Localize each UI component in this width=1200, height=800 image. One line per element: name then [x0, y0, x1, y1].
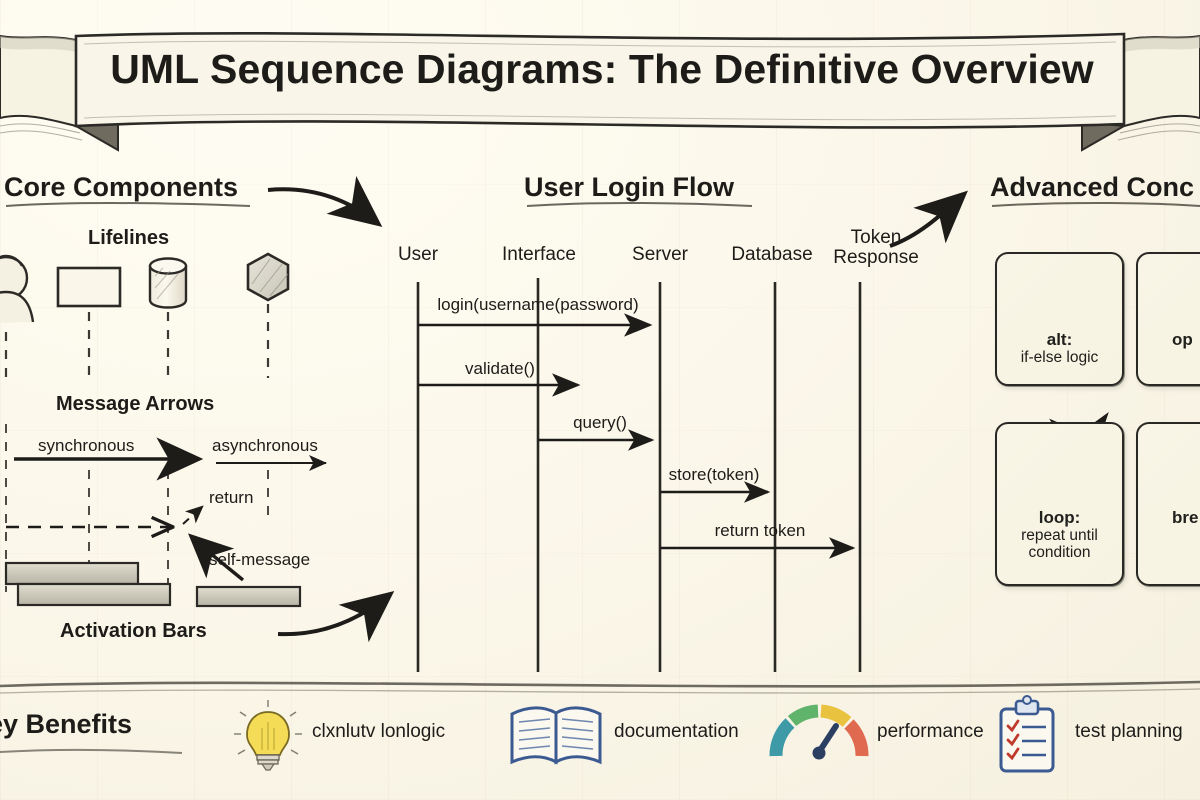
- heading-advanced-concepts: Advanced Conc: [990, 173, 1194, 201]
- card-title-loop: loop:: [1039, 508, 1081, 527]
- boundary-hexagon-icon: [248, 254, 288, 300]
- lifeline-symbols: [0, 254, 288, 592]
- sequence-diagram-lifelines: [418, 278, 860, 672]
- card-title-alt: alt:: [1047, 330, 1073, 349]
- label-return: return: [209, 489, 253, 507]
- advanced-card-opt[interactable]: op: [1136, 252, 1200, 386]
- heading-key-benefits: ey Benefits: [0, 710, 132, 738]
- clipboard-checklist-icon: [1001, 696, 1053, 771]
- card-subtitle-alt: if-else logic: [997, 349, 1122, 366]
- card-subtitle-loop: repeat until condition: [997, 527, 1122, 562]
- label-lifelines: Lifelines: [88, 228, 169, 249]
- gauge-icon: [776, 711, 862, 760]
- advanced-card-break[interactable]: bre: [1136, 422, 1200, 586]
- actor-label-token-response: Token Response: [828, 228, 924, 268]
- message-label-validate: validate(): [465, 360, 535, 378]
- heading-core-components: Core Components: [4, 173, 238, 201]
- label-synchronous: synchronous: [38, 437, 134, 455]
- heading-underlines: [6, 203, 1200, 206]
- benefit-label-clarity: clxnlutv lonlogic: [312, 722, 445, 742]
- card-title-break: bre: [1172, 508, 1198, 527]
- open-book-icon: [512, 708, 600, 762]
- lifeline-dashes: [6, 304, 268, 378]
- page-title: UML Sequence Diagrams: The Definitive Ov…: [82, 48, 1122, 91]
- message-label-store-token: store(token): [669, 466, 760, 484]
- actor-label-server: Server: [632, 245, 688, 265]
- database-cylinder-icon: [150, 259, 186, 308]
- advanced-card-alt[interactable]: alt: if-else logic: [995, 252, 1124, 386]
- object-rectangle-icon: [58, 268, 120, 306]
- message-label-return-token: return token: [715, 522, 806, 540]
- activation-bars: [6, 563, 300, 606]
- actor-label-interface: Interface: [502, 245, 576, 265]
- lightbulb-icon: [234, 700, 302, 770]
- message-label-login: login(username(password): [437, 296, 638, 314]
- label-self-message: self-message: [209, 551, 310, 569]
- benefit-label-documentation: documentation: [614, 722, 739, 742]
- label-message-arrows: Message Arrows: [56, 394, 214, 415]
- actor-label-user: User: [398, 245, 438, 265]
- actor-person-icon: [0, 256, 33, 323]
- message-label-query: query(): [573, 414, 627, 432]
- connector-core-to-flow: [268, 189, 376, 222]
- benefit-label-test-planning: test planning: [1075, 722, 1183, 742]
- heading-user-login-flow: User Login Flow: [524, 173, 734, 201]
- benefit-label-performance: performance: [877, 722, 984, 742]
- label-activation-bars: Activation Bars: [60, 621, 207, 642]
- card-title-opt: op: [1172, 330, 1193, 349]
- actor-label-database: Database: [731, 245, 812, 265]
- advanced-card-loop[interactable]: loop: repeat until condition: [995, 422, 1124, 586]
- label-asynchronous: asynchronous: [212, 437, 318, 455]
- return-arrow-tick: [183, 506, 203, 524]
